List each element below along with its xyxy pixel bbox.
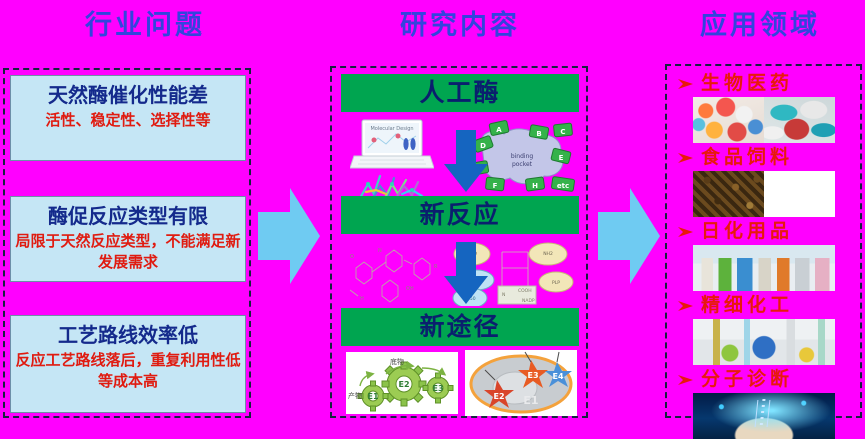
svg-text:E2: E2 (398, 380, 409, 389)
svg-text:NADP: NADP (522, 298, 535, 304)
svg-text:etc: etc (557, 182, 569, 190)
household-cleaning-products-image (693, 245, 835, 291)
svg-text:E1: E1 (523, 394, 538, 407)
research-stage-1: 新反应 (341, 196, 579, 234)
research-stage-2: 新途径 (341, 308, 579, 346)
research-column-header: 研究内容 (335, 8, 585, 44)
svg-text:OH: OH (406, 286, 414, 292)
application-item-4-images (693, 393, 835, 439)
application-item-0-label: 生物医药 (701, 72, 793, 94)
bullet-arrow-icon-0 (677, 76, 695, 90)
application-item-3-images (693, 319, 835, 365)
svg-text:E2: E2 (493, 392, 504, 401)
svg-text:C: C (560, 128, 565, 136)
applications-column: 生物医药 食品饲料 日化用品 (665, 64, 862, 418)
problem-card-0: 天然酶催化性能差 活性、稳定性、选择性等 (10, 75, 246, 161)
capsules-closeup-image (764, 97, 835, 143)
svg-text:H: H (360, 296, 364, 302)
svg-text:Molecular Design: Molecular Design (370, 126, 413, 132)
enzyme-gear-pathway-image: E2E3E1 底物 产物 (346, 352, 458, 414)
svg-text:E3: E3 (432, 384, 443, 393)
svg-text:binding: binding (511, 153, 534, 160)
laptop-molecular-design-image: Molecular Design (350, 118, 434, 170)
problem-card-2-title: 工艺路线效率低 (11, 320, 245, 350)
svg-text:COOH: COOH (518, 288, 532, 294)
application-item-1-images (693, 171, 835, 217)
down-arrow-icon-1 (444, 242, 488, 304)
svg-text:N: N (378, 248, 382, 254)
svg-text:H: H (532, 182, 538, 190)
application-item-1-label: 食品饲料 (701, 146, 793, 168)
cell-enzyme-cascade-image: E3 E4 E2 E1 (465, 350, 577, 416)
svg-text:PLP: PLP (552, 280, 560, 286)
application-item-3: 精细化工 (667, 292, 860, 365)
svg-text:N: N (502, 292, 505, 298)
application-item-1: 食品饲料 (667, 144, 860, 217)
svg-text:R: R (434, 264, 438, 270)
lab-glassware-chemicals-image (693, 319, 835, 365)
application-item-4-label: 分子诊断 (701, 368, 793, 390)
right-arrow-icon-problems-to-research (258, 186, 320, 286)
application-item-0-images (693, 97, 835, 143)
bullet-arrow-icon-2 (677, 224, 695, 238)
research-column: 人工酶 Molecular Design (330, 66, 588, 418)
svg-text:底物: 底物 (390, 357, 404, 366)
research-stage-0: 人工酶 (341, 74, 579, 112)
svg-text:pocket: pocket (512, 161, 533, 168)
problem-card-0-subtitle: 活性、稳定性、选择性等 (11, 110, 245, 131)
svg-text:NH2: NH2 (543, 251, 553, 257)
bullet-arrow-icon-3 (677, 298, 695, 312)
problem-card-2-subtitle: 反应工艺路线落后，重复利用性低等成本高 (11, 350, 245, 392)
application-item-0: 生物医药 (667, 70, 860, 143)
svg-text:E1: E1 (367, 392, 378, 401)
bullet-arrow-icon-1 (677, 150, 695, 164)
svg-text:A: A (496, 126, 502, 134)
problems-column-header: 行业问题 (0, 8, 290, 44)
problem-card-0-title: 天然酶催化性能差 (11, 80, 245, 110)
pills-assorted-image (693, 97, 764, 143)
feed-pellets-image (693, 171, 764, 217)
problem-card-1-title: 酶促反应类型有限 (11, 201, 245, 231)
down-arrow-icon-0 (444, 130, 488, 192)
svg-text:E: E (559, 154, 564, 162)
dna-helix-in-hand-image (693, 393, 835, 439)
bullet-arrow-icon-4 (677, 372, 695, 386)
problem-card-1-subtitle: 局限于天然反应类型，不能满足新发展需求 (11, 231, 245, 273)
svg-text:F: F (493, 182, 498, 190)
application-item-3-label: 精细化工 (701, 294, 793, 316)
svg-text:E4: E4 (552, 372, 563, 381)
right-arrow-icon-research-to-applications (598, 186, 660, 286)
application-item-4: 分子诊断 (667, 366, 860, 439)
svg-text:B: B (536, 130, 541, 138)
blank-image (764, 171, 835, 217)
svg-text:E3: E3 (527, 371, 538, 380)
application-item-2-images (693, 245, 835, 291)
problem-card-2: 工艺路线效率低 反应工艺路线落后，重复利用性低等成本高 (10, 315, 246, 413)
problems-column: 天然酶催化性能差 活性、稳定性、选择性等 酶促反应类型有限 局限于天然反应类型，… (3, 68, 251, 418)
svg-text:产物: 产物 (348, 391, 362, 400)
applications-column-header: 应用领域 (655, 8, 865, 44)
svg-text:O: O (350, 254, 354, 260)
application-item-2-label: 日化用品 (701, 220, 793, 242)
application-item-2: 日化用品 (667, 218, 860, 291)
problem-card-1: 酶促反应类型有限 局限于天然反应类型，不能满足新发展需求 (10, 196, 246, 282)
